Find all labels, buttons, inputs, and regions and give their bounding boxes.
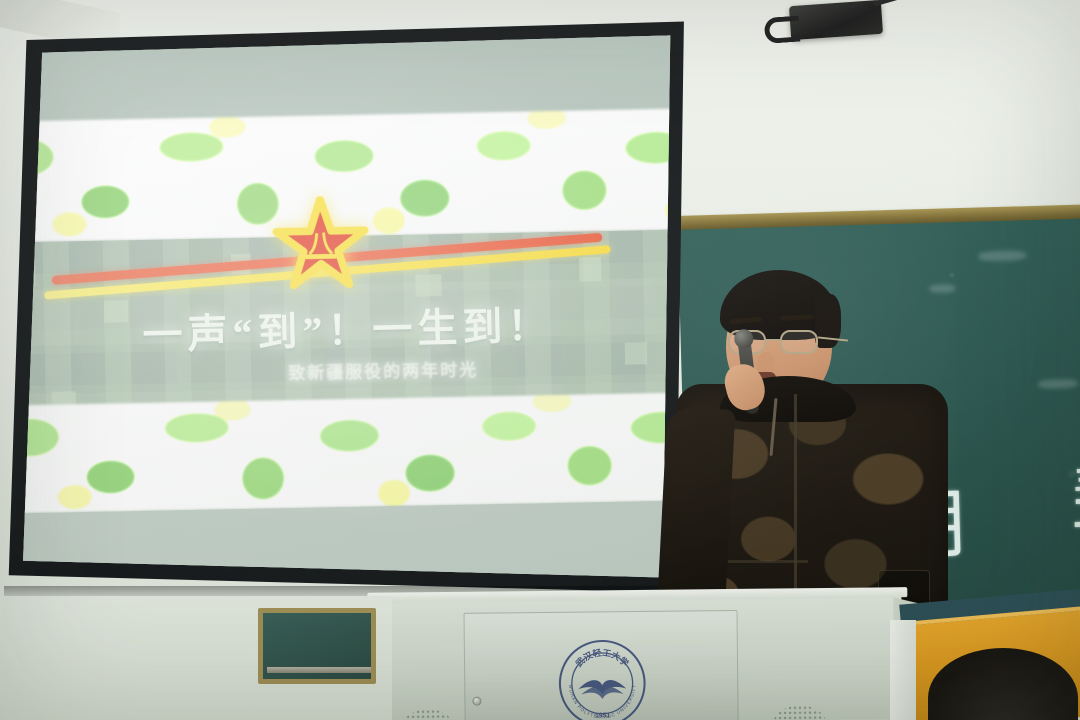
presenter <box>660 268 960 628</box>
projection-screen: 八 一声“到”！一生到！ 致新疆服役的两年时光 <box>6 18 688 596</box>
pla-bayi-star-icon: 八 <box>272 196 370 294</box>
classroom-photo: 一 朋 辈 第 二 <box>0 0 1080 720</box>
speaker-grille-left <box>401 709 455 720</box>
camo-pixel <box>415 274 441 296</box>
lens-right <box>780 330 818 354</box>
chalk-char-2: 辈 <box>1069 439 1080 553</box>
wall-pillar <box>890 620 916 720</box>
jacket-zipper <box>794 394 797 594</box>
glasses-bridge <box>766 339 780 341</box>
camo-pixel <box>579 257 601 281</box>
presentation-slide: 八 一声“到”！一生到！ 致新疆服役的两年时光 <box>6 18 688 596</box>
speaker-grille-right <box>772 705 826 720</box>
camouflage-band-bottom <box>6 392 688 515</box>
svg-text:武汉轻工大学: 武汉轻工大学 <box>573 646 632 669</box>
svg-text:1951: 1951 <box>595 712 611 719</box>
lectern-lock-icon[interactable] <box>472 697 481 706</box>
left-arm <box>657 406 736 619</box>
university-crest-icon: 武汉轻工大学 WUHAN POLYTECHNIC UNIVERSITY 1951 <box>556 637 649 720</box>
lectern: 武汉轻工大学 WUHAN POLYTECHNIC UNIVERSITY 1951 <box>371 593 902 720</box>
side-chalkboard-edge <box>258 608 376 684</box>
